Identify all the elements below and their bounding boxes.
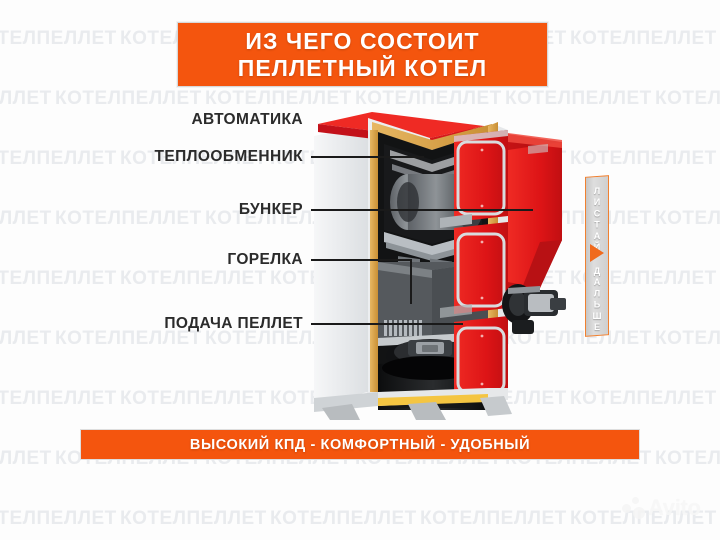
watermark-text: КОТЕЛПЕЛЛЕТ [0, 28, 117, 50]
watermark-text: КОТЕЛПЕЛЛЕТ [0, 328, 52, 350]
watermark-text: КОТЕЛПЕЛЛЕТ [655, 328, 720, 350]
avito-dot-2 [632, 497, 639, 504]
watermark-text: КОТЕЛПЕЛЛЕТ [0, 88, 52, 110]
watermark-text: КОТЕЛПЕЛЛЕТ [0, 508, 117, 530]
watermark-text: КОТЕЛПЕЛЛЕТ [570, 388, 717, 410]
watermark-text: КОТЕЛПЕЛЛЕТ [120, 268, 267, 290]
scroll-badge-top-text: ЛИСТАЙ [585, 186, 609, 242]
watermark-text: КОТЕЛПЕЛЛЕТ [270, 508, 417, 530]
scroll-next-badge[interactable]: ЛИСТАЙ ДАЛЬШЕ [585, 176, 609, 336]
watermark-text: КОТЕЛПЕЛЛЕТ [655, 208, 720, 230]
callout-label-bunker: БУНКЕР [128, 201, 303, 219]
watermark-text: КОТЕЛПЕЛЛЕТ [570, 28, 717, 50]
footer-tagline: ВЫСОКИЙ КПД - КОМФОРТНЫЙ - УДОБНЫЙ [190, 437, 530, 453]
avito-dot-1 [622, 504, 631, 513]
watermark-text: КОТЕЛПЕЛЛЕТ [0, 208, 52, 230]
play-triangle-right-icon [590, 244, 604, 262]
leader-line-teploobmennik [311, 156, 424, 158]
avito-dot-3 [633, 507, 645, 519]
avito-wordmark: Avito [648, 495, 701, 521]
callout-label-gorelka: ГОРЕЛКА [128, 251, 303, 269]
header-title-line2: ПЕЛЛЕТНЫЙ КОТЕЛ [238, 55, 488, 82]
leader-line-bunker [311, 209, 533, 211]
footer-banner: ВЫСОКИЙ КПД - КОМФОРТНЫЙ - УДОБНЫЙ [80, 429, 640, 460]
watermark-text: КОТЕЛПЕЛЛЕТ [0, 148, 117, 170]
leader-line-gorelka-horizontal [311, 259, 412, 261]
callout-label-teploobmennik: ТЕПЛООБМЕННИК [108, 148, 303, 166]
watermark-text: КОТЕЛПЕЛЛЕТ [120, 508, 267, 530]
header-banner: ИЗ ЧЕГО СОСТОИТ ПЕЛЛЕТНЫЙ КОТЕЛ [177, 22, 548, 87]
watermark-text: КОТЕЛПЕЛЛЕТ [420, 508, 567, 530]
header-title-line1: ИЗ ЧЕГО СОСТОИТ [245, 28, 479, 55]
watermark-text: КОТЕЛПЕЛЛЕТ [655, 448, 720, 470]
watermark-text: КОТЕЛПЕЛЛЕТ [0, 388, 117, 410]
watermark-text: КОТЕЛПЕЛЛЕТ [570, 148, 717, 170]
leader-line-gorelka-vertical [410, 259, 412, 304]
watermark-text: КОТЕЛПЕЛЛЕТ [55, 88, 202, 110]
watermark-text: КОТЕЛПЕЛЛЕТ [120, 388, 267, 410]
slide-canvas: КОТЕЛПЕЛЛЕТКОТЕЛПЕЛЛЕТКОТЕЛПЕЛЛЕТКОТЕЛПЕ… [0, 0, 720, 540]
scroll-badge-bottom-text: ДАЛЬШЕ [585, 266, 609, 334]
callout-label-podacha-pellet: ПОДАЧА ПЕЛЛЕТ [118, 315, 303, 333]
callout-label-avtomatika: АВТОМАТИКА [128, 111, 303, 129]
watermark-text: КОТЕЛПЕЛЛЕТ [0, 448, 52, 470]
leader-line-podacha-pellet [311, 323, 463, 325]
watermark-text: КОТЕЛПЕЛЛЕТ [0, 268, 117, 290]
avito-logo: Avito [620, 494, 716, 522]
pellet-boiler-illustration [312, 92, 580, 420]
watermark-text: КОТЕЛПЕЛЛЕТ [655, 88, 720, 110]
